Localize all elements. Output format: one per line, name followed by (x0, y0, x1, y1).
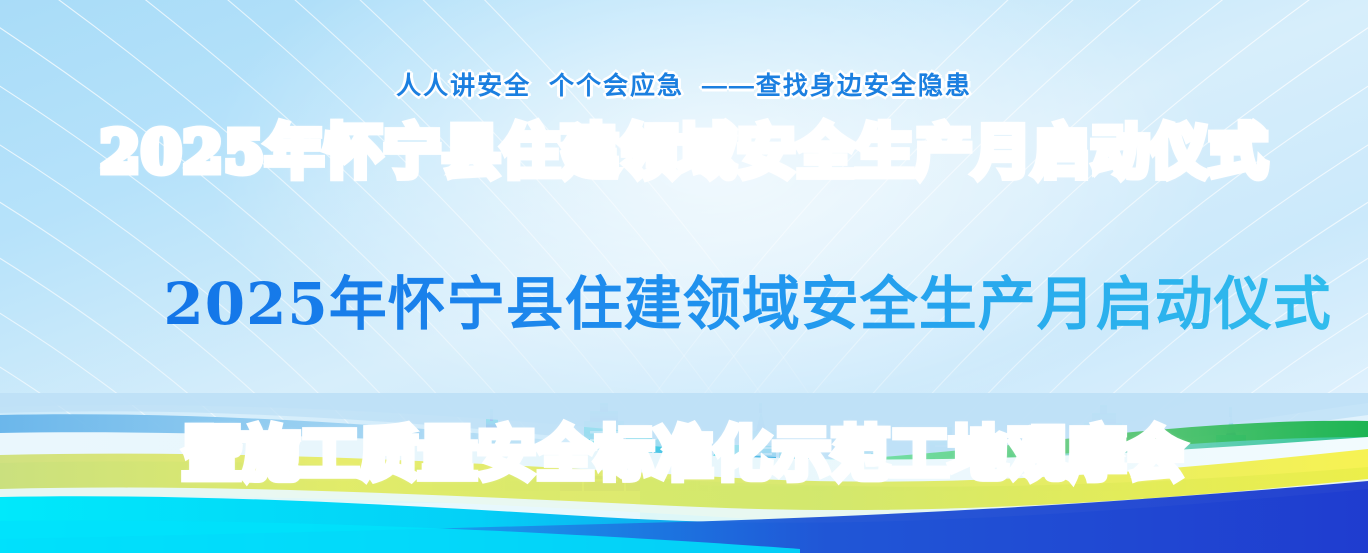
poster-subtitle: 人人讲安全 个个会应急 ——查找身边安全隐患 (0, 66, 1368, 102)
title-line1-outline: 2025年怀宁县住建领域安全生产月启动仪式 (0, 114, 1368, 190)
poster-canvas: 人人讲安全 个个会应急 ——查找身边安全隐患 2025年怀宁县住建领域安全生产月… (0, 0, 1368, 553)
poster-title-line1: 2025年怀宁县住建领域安全生产月启动仪式 2025年怀宁县住建领域安全生产月启… (0, 114, 1368, 418)
poster-title-line2: 暨施工质量安全标准化示范工地观摩会 暨施工质量安全标准化示范工地观摩会 (0, 416, 1368, 553)
title-line2-outline: 暨施工质量安全标准化示范工地观摩会 (0, 416, 1368, 492)
title-line1-fill: 2025年怀宁县住建领域安全生产月启动仪式 (163, 270, 1331, 338)
poster-text-block: 人人讲安全 个个会应急 ——查找身边安全隐患 2025年怀宁县住建领域安全生产月… (0, 0, 1368, 553)
